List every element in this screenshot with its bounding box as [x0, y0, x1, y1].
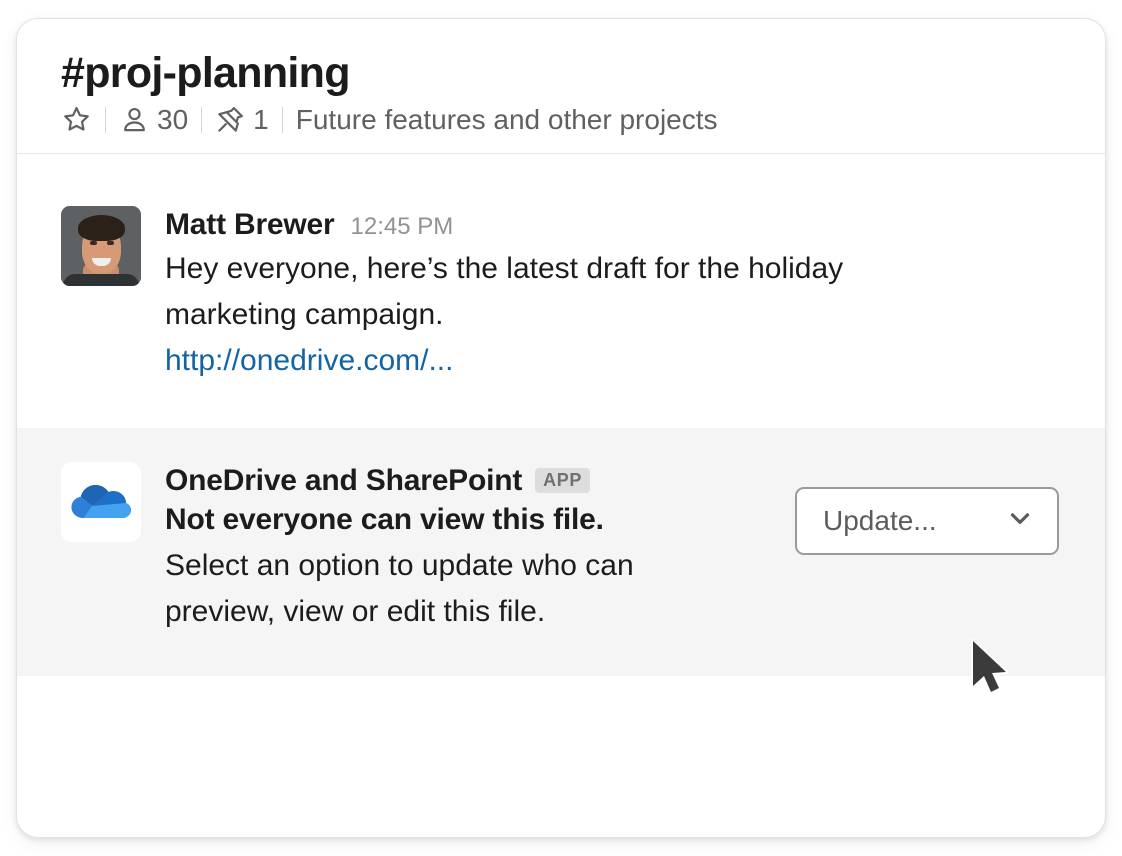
message-text-line-2: marketing campaign. — [165, 292, 843, 338]
message-text-line-1: Hey everyone, here’s the latest draft fo… — [165, 246, 843, 292]
pin-icon — [215, 104, 246, 135]
channel-header: #proj-planning 30 — [17, 19, 1105, 154]
meta-divider — [282, 107, 283, 133]
avatar-shoulders — [63, 274, 139, 286]
message-row: Matt Brewer 12:45 PM Hey everyone, here’… — [17, 154, 1105, 428]
message-author[interactable]: Matt Brewer — [165, 208, 335, 242]
avatar-eye-left — [90, 241, 97, 245]
pins-button[interactable]: 1 — [215, 104, 269, 135]
onedrive-cloud-icon — [61, 462, 141, 542]
update-button-label: Update... — [823, 505, 937, 537]
message-timestamp[interactable]: 12:45 PM — [351, 213, 454, 241]
meta-divider — [105, 107, 106, 133]
channel-meta-bar: 30 1 Future features and other projects — [61, 104, 1105, 135]
members-count: 30 — [157, 106, 188, 134]
meta-divider — [201, 107, 202, 133]
avatar-eye-right — [107, 241, 114, 245]
slack-channel-card: #proj-planning 30 — [16, 18, 1106, 838]
avatar[interactable] — [61, 206, 141, 286]
chevron-down-icon — [1005, 503, 1035, 538]
message-link[interactable]: http://onedrive.com/... — [165, 338, 843, 384]
message-headline: Matt Brewer 12:45 PM — [165, 208, 843, 242]
card-footer — [17, 676, 1105, 736]
attachment-description-line-2: preview, view or edit this file. — [165, 589, 755, 636]
avatar-hair — [78, 215, 125, 241]
status-badge: APP — [535, 468, 590, 493]
app-name[interactable]: OneDrive and SharePoint — [165, 464, 522, 498]
channel-topic[interactable]: Future features and other projects — [296, 106, 718, 134]
members-button[interactable]: 30 — [119, 104, 188, 135]
attachment-description-line-1: Select an option to update who can — [165, 543, 755, 590]
update-dropdown-button[interactable]: Update... — [795, 487, 1059, 555]
pins-count: 1 — [253, 106, 269, 134]
message-body: Matt Brewer 12:45 PM Hey everyone, here’… — [165, 206, 843, 384]
page-title: #proj-planning — [61, 51, 1105, 96]
members-icon — [119, 104, 150, 135]
star-button[interactable] — [61, 104, 92, 135]
star-icon — [61, 104, 92, 135]
app-attachment: OneDrive and SharePoint APP Not everyone… — [17, 428, 1105, 676]
